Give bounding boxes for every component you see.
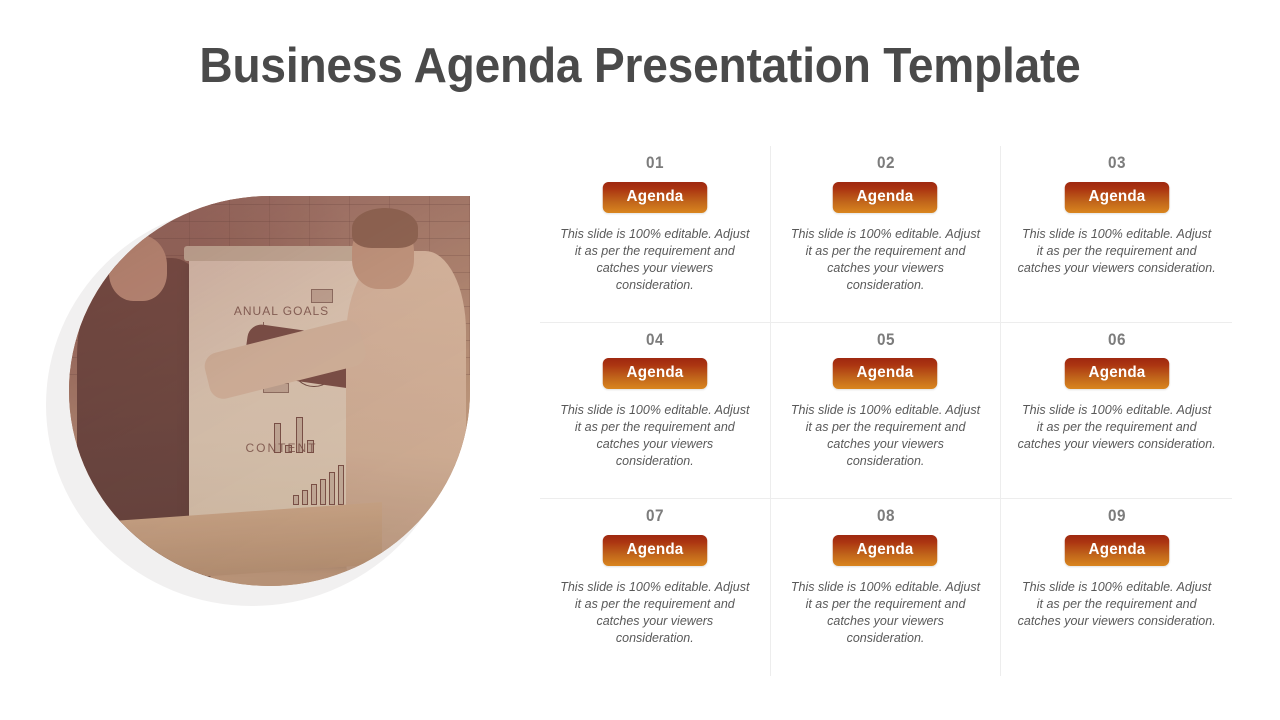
agenda-button[interactable]: Agenda [833,535,938,566]
agenda-number: 07 [646,507,664,526]
agenda-card: 02 Agenda This slide is 100% editable. A… [771,146,1002,323]
agenda-description: This slide is 100% editable. Adjust it a… [1017,226,1216,277]
page-title: Business Agenda Presentation Template [38,38,1241,94]
agenda-card: 06 Agenda This slide is 100% editable. A… [1001,323,1232,500]
agenda-card: 07 Agenda This slide is 100% editable. A… [540,499,771,676]
agenda-description: This slide is 100% editable. Adjust it a… [787,402,985,470]
agenda-description: This slide is 100% editable. Adjust it a… [787,579,985,647]
agenda-number: 02 [877,154,895,173]
agenda-number: 08 [877,507,895,526]
agenda-card: 08 Agenda This slide is 100% editable. A… [771,499,1002,676]
agenda-description: This slide is 100% editable. Adjust it a… [556,402,754,470]
agenda-button[interactable]: Agenda [833,182,938,213]
agenda-button[interactable]: Agenda [833,358,938,389]
meeting-photo: ANUAL GOALS CONTENT [69,196,470,586]
agenda-number: 06 [1108,331,1126,350]
agenda-number: 03 [1108,154,1126,173]
agenda-card: 01 Agenda This slide is 100% editable. A… [540,146,771,323]
agenda-description: This slide is 100% editable. Adjust it a… [1017,402,1216,453]
agenda-description: This slide is 100% editable. Adjust it a… [556,226,754,294]
agenda-description: This slide is 100% editable. Adjust it a… [1017,579,1216,630]
agenda-number: 09 [1108,507,1126,526]
agenda-button[interactable]: Agenda [603,535,708,566]
agenda-number: 05 [877,331,895,350]
agenda-number: 04 [646,331,664,350]
agenda-button[interactable]: Agenda [1064,182,1169,213]
agenda-card: 05 Agenda This slide is 100% editable. A… [771,323,1002,500]
agenda-grid: 01 Agenda This slide is 100% editable. A… [540,146,1232,676]
agenda-button[interactable]: Agenda [1064,535,1169,566]
agenda-card: 04 Agenda This slide is 100% editable. A… [540,323,771,500]
agenda-description: This slide is 100% editable. Adjust it a… [556,579,754,647]
agenda-button[interactable]: Agenda [1064,358,1169,389]
agenda-card: 03 Agenda This slide is 100% editable. A… [1001,146,1232,323]
agenda-number: 01 [646,154,664,173]
agenda-card: 09 Agenda This slide is 100% editable. A… [1001,499,1232,676]
agenda-button[interactable]: Agenda [603,358,708,389]
photo-wash-overlay [69,196,470,586]
agenda-button[interactable]: Agenda [603,182,708,213]
photo-scene: ANUAL GOALS CONTENT [69,196,470,586]
agenda-description: This slide is 100% editable. Adjust it a… [787,226,985,294]
photo-area: ANUAL GOALS CONTENT [46,196,470,610]
